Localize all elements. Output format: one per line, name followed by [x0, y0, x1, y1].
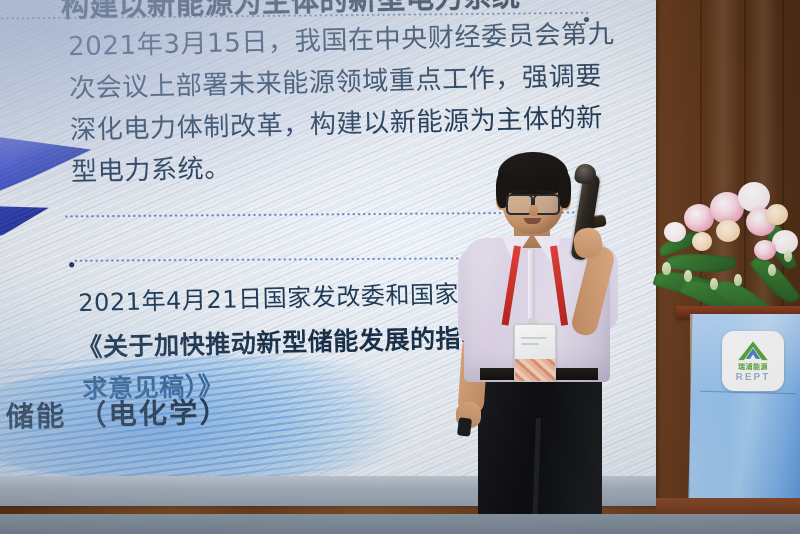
flower-bud [734, 274, 742, 286]
podium-logo-latin: REPT [736, 373, 771, 383]
flower-bud [710, 278, 718, 290]
speaker [430, 150, 660, 534]
glasses-bridge [525, 194, 535, 196]
slide-bottom-label: 储能 （电化学） [5, 389, 230, 435]
rose-bloom [692, 232, 712, 251]
stage-floor [0, 514, 800, 534]
presentation-remote [457, 417, 472, 436]
flower-bud [662, 262, 671, 275]
speaker-trousers [478, 372, 602, 534]
blue-arrow-small-icon [0, 200, 50, 250]
flower-bud [784, 250, 792, 262]
podium-logo-chinese: 瑞浦能源 [738, 364, 768, 371]
flower-bud [768, 264, 776, 276]
lily-bloom [754, 240, 776, 260]
microphone-head [574, 162, 598, 185]
flower-arrangement [650, 178, 800, 326]
rose-bloom [766, 204, 788, 225]
lily-bloom [738, 182, 770, 212]
dotted-rule-endpoint [69, 262, 74, 267]
rose-bloom [716, 220, 740, 242]
slide-paragraph-line: 型电力系统。 [71, 148, 232, 194]
conference-photo: 构建以新能源为主体的新型电力系统" 2021年3月15日，我国在中央财经委员会第… [0, 0, 800, 534]
flower-bud [684, 270, 692, 282]
podium-logo-plate: 瑞浦能源 REPT [722, 331, 784, 391]
badge-lower-band [515, 359, 555, 381]
nose [529, 205, 538, 216]
lily-bloom [664, 222, 686, 242]
rept-mountain-logo-icon [736, 340, 770, 362]
name-badge [514, 324, 556, 382]
